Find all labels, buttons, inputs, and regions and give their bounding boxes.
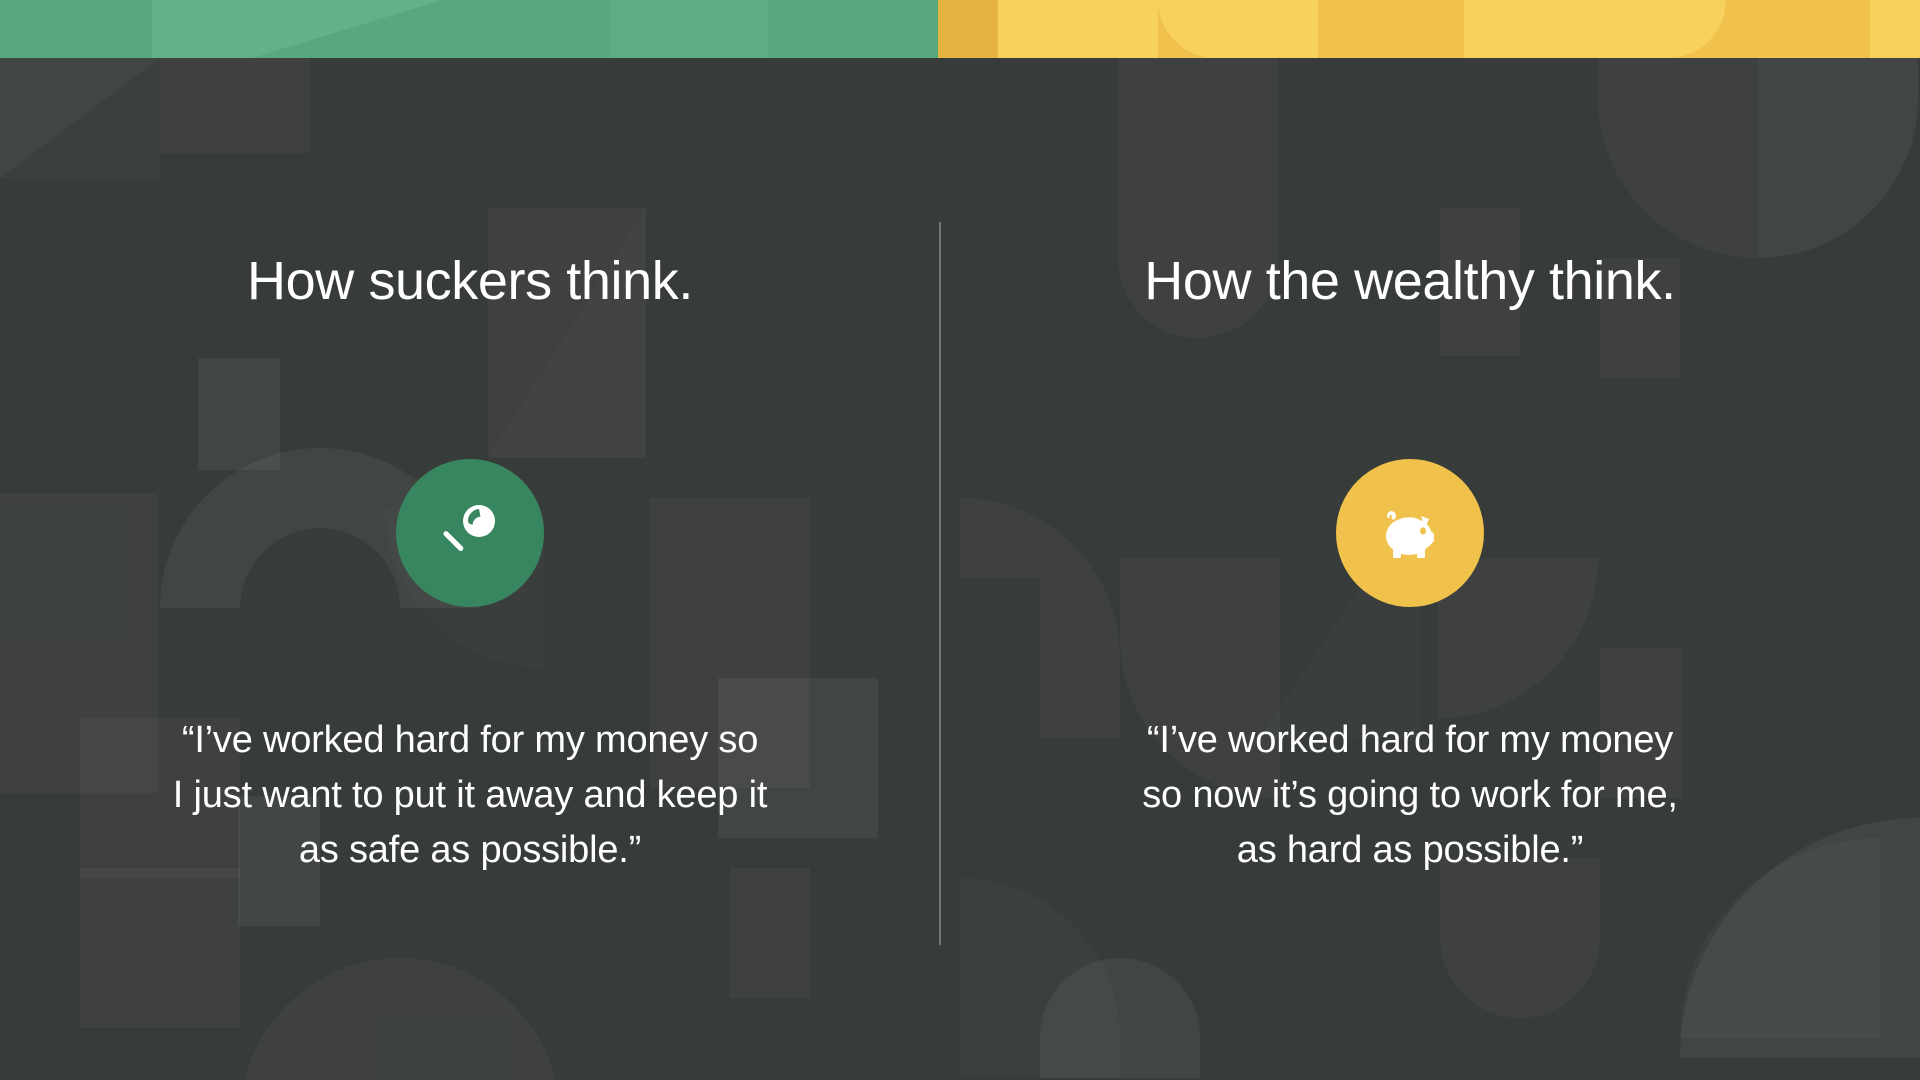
slide-canvas: How suckers think. “I’ve worked hard for… [0,0,1920,1080]
page-title-wealthy: How the wealthy think. [940,252,1880,311]
page-title-suckers: How suckers think. [0,252,940,311]
lollipop-icon [434,497,506,569]
quote-line: as safe as possible.” [0,823,940,878]
quote-suckers: “I’ve worked hard for my money so I just… [0,713,940,878]
icon-badge-wealthy [1336,459,1484,607]
quote-line: “I’ve worked hard for my money [940,713,1880,768]
quote-line: so now it’s going to work for me, [940,768,1880,823]
quote-line: I just want to put it away and keep it [0,768,940,823]
topbar-green-accent [152,0,252,58]
quote-wealthy: “I’ve worked hard for my money so now it… [940,713,1880,878]
topbar-yellow-accent [938,0,998,58]
topbar-yellow-accent [998,0,1158,58]
topbar-green-accent [610,0,768,58]
quote-line: “I’ve worked hard for my money so [0,713,940,768]
topbar-yellow-accent [1870,0,1920,58]
column-suckers: How suckers think. “I’ve worked hard for… [0,58,940,1080]
topbar-yellow-accent [1464,0,1624,58]
quote-line: as hard as possible.” [940,823,1880,878]
piggy-bank-icon [1373,496,1447,570]
topbar-green-band [0,0,938,58]
column-wealthy: How the wealthy think. [940,58,1880,1080]
top-color-bar [0,0,1920,58]
icon-badge-suckers [396,459,544,607]
